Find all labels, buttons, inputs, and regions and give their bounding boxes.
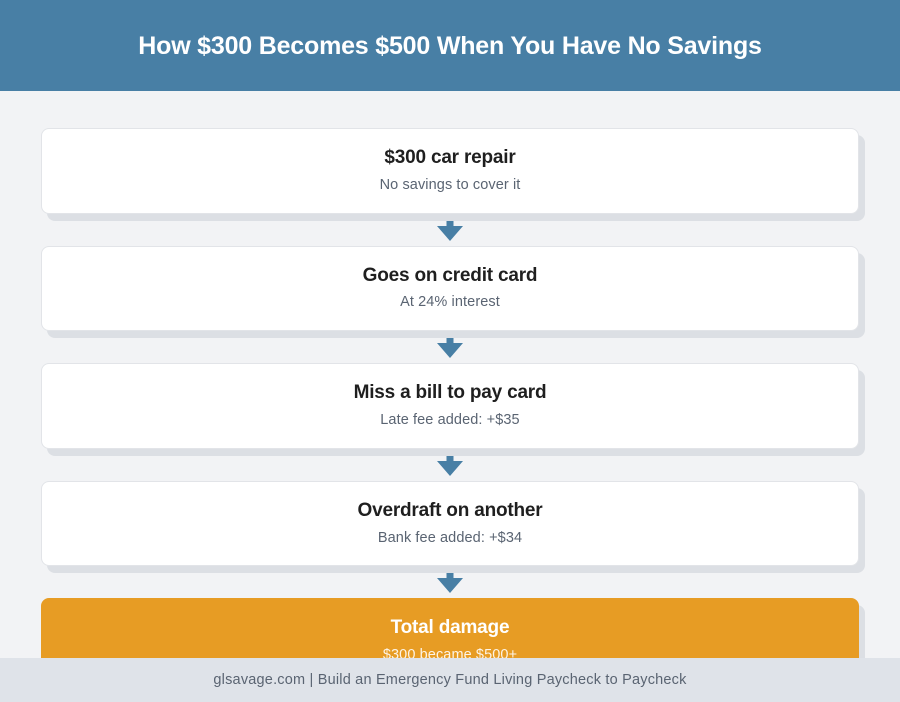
step-subtitle: At 24% interest: [400, 293, 500, 312]
step-subtitle: Bank fee added: +$34: [378, 529, 522, 548]
flow-step: Miss a bill to pay card Late fee added: …: [41, 363, 859, 449]
page-title: How $300 Becomes $500 When You Have No S…: [138, 31, 761, 61]
step-title: Goes on credit card: [363, 264, 538, 288]
flow-connector: [41, 449, 859, 481]
step-subtitle: No savings to cover it: [380, 176, 521, 195]
step-title: Overdraft on another: [358, 499, 543, 523]
footer-attribution: glsavage.com | Build an Emergency Fund L…: [213, 672, 686, 688]
step-card-car-repair: $300 car repair No savings to cover it: [41, 128, 859, 214]
flow-connector: [41, 214, 859, 246]
header-banner: How $300 Becomes $500 When You Have No S…: [0, 0, 900, 91]
step-card-credit-card: Goes on credit card At 24% interest: [41, 246, 859, 332]
step-subtitle: Late fee added: +$35: [380, 411, 519, 430]
footer-banner: glsavage.com | Build an Emergency Fund L…: [0, 658, 900, 702]
flow-step: $300 car repair No savings to cover it: [41, 128, 859, 214]
flow-step: Goes on credit card At 24% interest: [41, 246, 859, 332]
flow-step: Overdraft on another Bank fee added: +$3…: [41, 481, 859, 567]
arrow-down-icon: [437, 219, 463, 241]
arrow-down-icon: [437, 571, 463, 593]
step-card-overdraft: Overdraft on another Bank fee added: +$3…: [41, 481, 859, 567]
step-card-missed-bill: Miss a bill to pay card Late fee added: …: [41, 363, 859, 449]
step-title: Total damage: [391, 616, 510, 640]
step-title: $300 car repair: [384, 146, 515, 170]
flow-connector: [41, 331, 859, 363]
step-title: Miss a bill to pay card: [354, 381, 547, 405]
flow-diagram: $300 car repair No savings to cover it G…: [0, 91, 900, 684]
flow-connector: [41, 566, 859, 598]
arrow-down-icon: [437, 454, 463, 476]
arrow-down-icon: [437, 336, 463, 358]
